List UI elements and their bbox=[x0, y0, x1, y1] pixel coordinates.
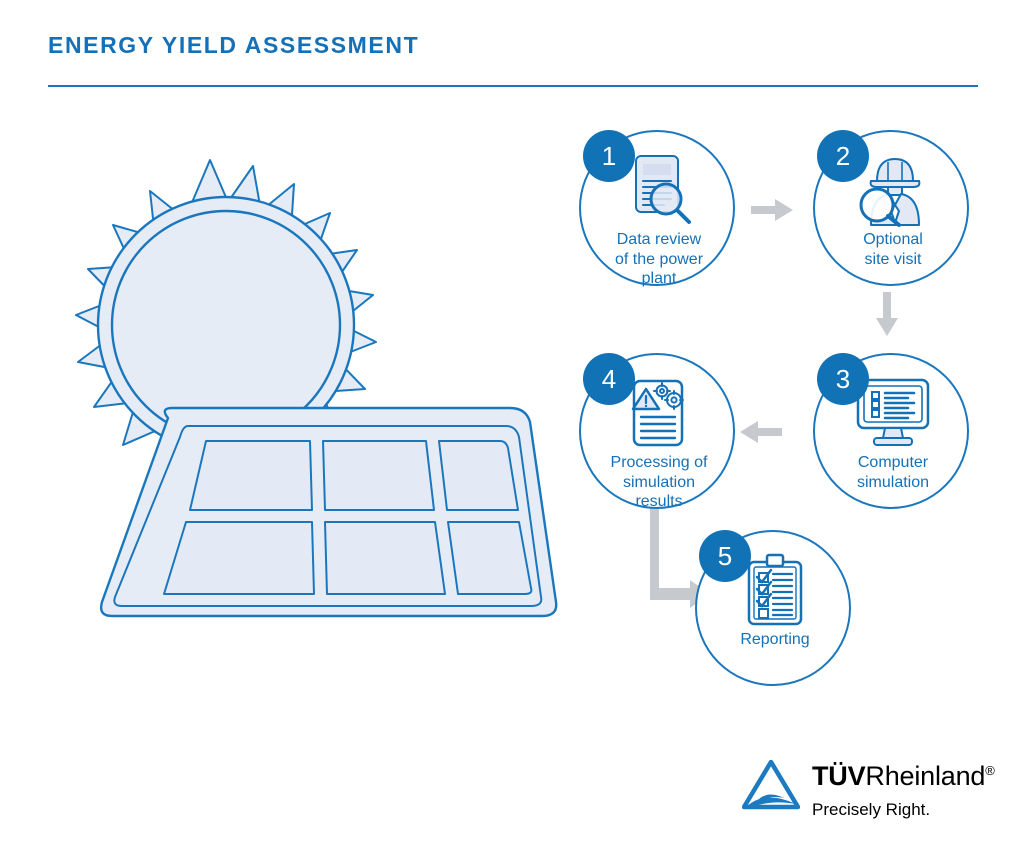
step-number-badge: 4 bbox=[583, 353, 635, 405]
flow-step-3[interactable]: 3 Computer simulation bbox=[813, 353, 973, 513]
step-label: Computer simulation bbox=[803, 453, 983, 492]
step-number-badge: 1 bbox=[583, 130, 635, 182]
step-label-line: site visit bbox=[803, 250, 983, 270]
step-label-line: Data review bbox=[569, 230, 749, 250]
logo-wordmark: TÜVRheinland® bbox=[812, 761, 995, 792]
flow-step-4[interactable]: 4 Processing of simulation results bbox=[579, 353, 739, 513]
tuv-rheinland-logo: TÜVRheinland® Precisely Right. bbox=[742, 758, 992, 838]
process-flow-diagram: 1 Data review of the power plant bbox=[555, 110, 1005, 710]
arrow-step3-to-step4 bbox=[740, 420, 782, 449]
flow-step-1[interactable]: 1 Data review of the power plant bbox=[579, 130, 739, 290]
page-title: ENERGY YIELD ASSESSMENT bbox=[48, 32, 419, 59]
step-label-line: Reporting bbox=[685, 630, 865, 650]
sun-solar-panel-illustration bbox=[40, 140, 580, 660]
step-number-badge: 2 bbox=[817, 130, 869, 182]
step-label: Processing of simulation results bbox=[569, 453, 749, 512]
step-label-line: Processing of bbox=[569, 453, 749, 473]
step-number-badge: 5 bbox=[699, 530, 751, 582]
infographic-page: ENERGY YIELD ASSESSMENT bbox=[0, 0, 1024, 867]
step-label-line: Optional bbox=[803, 230, 983, 250]
solar-panel-icon bbox=[101, 408, 556, 616]
step-label-line: simulation bbox=[803, 473, 983, 493]
title-divider bbox=[48, 85, 978, 87]
registered-trademark-icon: ® bbox=[985, 763, 994, 778]
step-label: Optional site visit bbox=[803, 230, 983, 269]
flow-step-2[interactable]: 2 Optional site visit bbox=[813, 130, 973, 290]
step-label-line: results bbox=[569, 492, 749, 512]
step-label: Data review of the power plant bbox=[569, 230, 749, 289]
logo-word-regular: Rheinland bbox=[865, 761, 985, 791]
flow-step-5[interactable]: 5 Reporting bbox=[695, 530, 855, 690]
step-label-line: plant bbox=[569, 269, 749, 289]
step-label: Reporting bbox=[685, 630, 865, 650]
step-label-line: Computer bbox=[803, 453, 983, 473]
arrow-step1-to-step2 bbox=[751, 198, 793, 227]
step-number-badge: 3 bbox=[817, 353, 869, 405]
arrow-step2-to-step3 bbox=[875, 292, 899, 341]
step-label-line: of the power bbox=[569, 250, 749, 270]
step-label-line: simulation bbox=[569, 473, 749, 493]
logo-word-bold: TÜV bbox=[812, 761, 865, 791]
logo-tagline: Precisely Right. bbox=[812, 800, 930, 820]
tuv-rheinland-triangle-logo-icon bbox=[742, 760, 800, 815]
